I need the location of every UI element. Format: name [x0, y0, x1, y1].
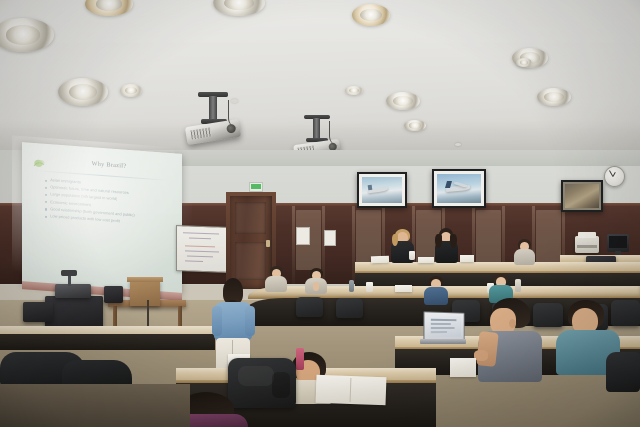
bullet-marker-icon — [45, 194, 47, 196]
framed-photo-aircraft-left — [357, 172, 407, 208]
table-leg — [178, 306, 182, 328]
lectern-top — [127, 277, 163, 282]
slide-logo-icon — [33, 157, 48, 171]
hair-side — [392, 234, 398, 246]
smoke-detector — [455, 143, 461, 146]
bullet-marker-icon — [45, 179, 47, 181]
slide-content: Why Brazil? Asian immigrants Optimistic … — [31, 155, 173, 269]
chair-right-foreground — [606, 352, 640, 392]
lecture-hall-photo: Why Brazil? Asian immigrants Optimistic … — [0, 0, 640, 427]
chair[interactable] — [336, 298, 363, 318]
slide-bullet-list: Asian immigrants Optimistic future, time… — [45, 178, 169, 230]
desktop-monitor[interactable] — [607, 234, 629, 252]
hand — [474, 350, 488, 361]
printer[interactable] — [575, 236, 599, 253]
ceiling-downlight — [386, 92, 420, 110]
bullet-text: Economic environment — [50, 200, 91, 208]
chair[interactable] — [296, 297, 323, 317]
whiteboard — [176, 225, 230, 273]
bullet-marker-icon — [45, 187, 47, 189]
water-bottle — [515, 279, 521, 292]
coffee-cup — [366, 282, 373, 292]
audience-mid-left — [265, 266, 287, 290]
ceiling-projector-left — [184, 92, 246, 148]
photo-image — [362, 177, 402, 203]
wall-poster — [296, 227, 310, 245]
arm — [313, 282, 319, 291]
audience-rear-right-woman — [434, 228, 458, 263]
framed-photo-right-wall — [561, 180, 603, 212]
projector-head — [61, 270, 77, 276]
av-equipment-cart — [45, 296, 103, 328]
arm-right — [245, 306, 255, 336]
arm-raised — [476, 331, 498, 367]
wall-poster — [324, 230, 336, 246]
audience-rear-far-right — [514, 239, 535, 265]
laptop-keyboard[interactable] — [420, 339, 466, 344]
screen-surface: Why Brazil? Asian immigrants Optimistic … — [22, 142, 182, 294]
name-card — [460, 255, 474, 262]
backpack[interactable] — [228, 358, 296, 408]
ceiling-downlight — [120, 84, 142, 97]
door-handle[interactable] — [266, 240, 270, 247]
water-bottle — [296, 348, 304, 370]
ceiling-downlight — [345, 86, 363, 95]
ceiling-downlight — [537, 88, 571, 106]
arm-left — [212, 306, 222, 336]
photo-image — [565, 184, 599, 208]
bullet-text: Asian immigrants — [50, 178, 81, 185]
exit-sign — [249, 182, 263, 192]
audience-right-blue — [424, 276, 448, 304]
projector-mount-pole — [209, 96, 217, 121]
bullet-marker-icon — [45, 215, 47, 217]
torso — [514, 249, 535, 265]
paper-stack — [418, 257, 434, 263]
ceiling-downlight — [516, 58, 532, 67]
projector-mount-pole — [313, 118, 320, 140]
exit-glyph-icon — [251, 184, 261, 189]
ear — [509, 319, 516, 328]
ceiling-downlight — [58, 78, 108, 106]
photo-image — [437, 174, 481, 203]
bullet-marker-icon — [45, 208, 47, 210]
wooden-lectern — [130, 280, 160, 306]
coffee-cup — [409, 251, 415, 260]
front-stage-front — [0, 334, 215, 350]
wall-soffit — [175, 150, 640, 166]
overhead-projector — [55, 284, 91, 298]
name-card — [450, 358, 476, 377]
ceiling-downlight — [352, 4, 390, 26]
ceiling-downlight — [404, 120, 426, 131]
water-bottle — [349, 280, 354, 292]
projector-cable — [329, 121, 341, 146]
bullet-marker-icon — [45, 201, 47, 203]
hair-side — [435, 234, 442, 248]
torso — [265, 276, 287, 292]
audience-mid-center — [305, 268, 327, 292]
av-monitor — [104, 286, 123, 303]
projection-screen: Why Brazil? Asian immigrants Optimistic … — [22, 142, 182, 294]
slide-title: Why Brazil? — [61, 158, 157, 172]
wall-clock — [604, 166, 625, 187]
open-notebook — [316, 375, 387, 405]
hair-side — [450, 234, 457, 248]
paper-stack — [395, 285, 412, 292]
torso — [424, 287, 448, 305]
projector-cable — [228, 100, 241, 128]
paper-stack — [371, 256, 389, 264]
av-console — [23, 302, 53, 322]
framed-photo-aircraft-right — [432, 169, 486, 208]
foreground-floor-shadow — [0, 384, 190, 427]
student-laptop-gray-shirt — [472, 298, 544, 382]
